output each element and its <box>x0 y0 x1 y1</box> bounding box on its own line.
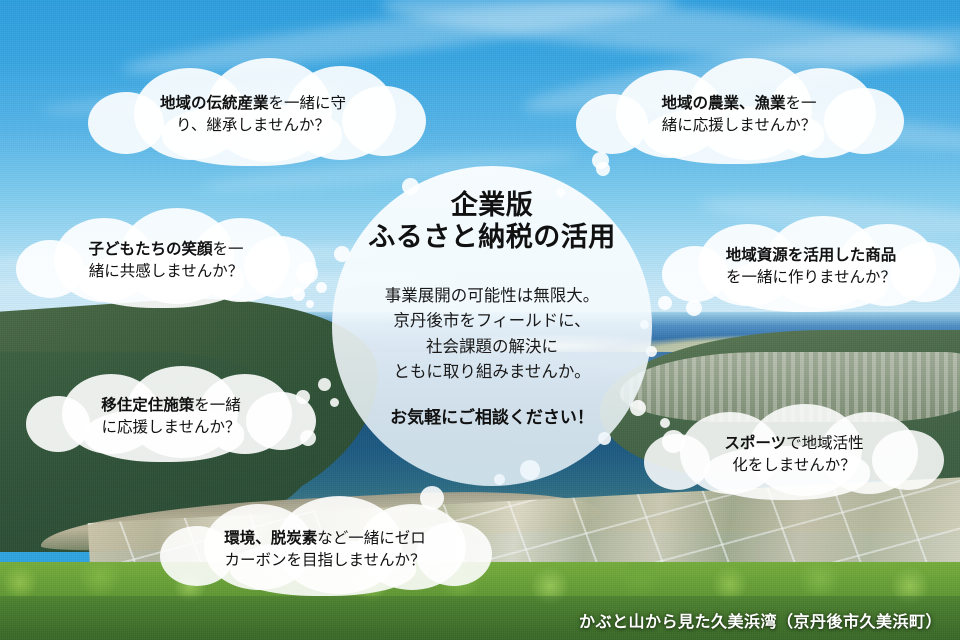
speech-bubble-traditional-industry: 地域の伝統産業を一緒に守 り、継承しませんか？ <box>88 58 418 170</box>
bubble-line2-5: 化をしませんか？ <box>724 454 863 476</box>
bubble-bold-6: 環境、脱炭素 <box>224 529 317 547</box>
poster-title-line2: ふるさと納税の活用 <box>368 222 616 254</box>
bubble-bold-2: 子どもたちの笑顔 <box>88 240 212 258</box>
bubble-rest-2: を一 <box>213 240 244 258</box>
bubble-line2-4: に応援しませんか？ <box>101 416 241 438</box>
bubble-rest-1: を一 <box>786 94 817 112</box>
speech-bubble-text: 地域資源を活用した商品 を一緒に作りませんか？ <box>716 244 907 289</box>
speech-bubble-text: スポーツで地域活性 化をしませんか？ <box>714 432 873 477</box>
bubble-rest-6: など一緒にゼロ <box>317 529 426 547</box>
decor-bubble <box>316 282 327 293</box>
bubble-bold-5: スポーツ <box>724 434 786 452</box>
bubble-rest-5: で地域活性 <box>786 434 864 452</box>
decor-bubble <box>686 300 702 316</box>
speech-bubble-agriculture-fishery: 地域の農業、漁業を一 緒に応援しませんか？ <box>576 58 902 170</box>
bubble-line2-0: り、継承しませんか？ <box>160 114 346 136</box>
bubble-line2-3: を一緒に作りませんか？ <box>726 266 897 288</box>
photo-caption: かぶと山から見た久美浜湾（京丹後市久美浜町） <box>579 608 942 632</box>
bubble-rest-0: を一緒に守 <box>269 94 347 112</box>
poster-title-line1: 企業版 <box>368 190 616 222</box>
speech-bubble-text: 子どもたちの笑顔を一 緒に共感しませんか？ <box>78 238 253 283</box>
poster-body-line2: 京丹後市をフィールドに、 <box>385 308 600 334</box>
poster-cta-text: お気軽にご相談ください！ <box>390 403 594 428</box>
bubble-line2-2: 緒に共感しませんか？ <box>88 260 243 282</box>
central-message-circle: 企業版 ふるさと納税の活用 事業展開の可能性は無限大。 京丹後市をフィールドに、… <box>332 166 652 486</box>
bubble-line2-1: 緒に応援しませんか？ <box>661 114 816 136</box>
speech-bubble-text: 地域の農業、漁業を一 緒に応援しませんか？ <box>651 92 826 137</box>
speech-bubble-text: 地域の伝統産業を一緒に守 り、継承しませんか？ <box>150 92 356 137</box>
decor-bubble <box>296 390 310 404</box>
speech-bubble-text: 移住定住施策を一緒 に応援しませんか？ <box>91 394 251 439</box>
bubble-line2-6: カーボンを目指しませんか？ <box>224 549 426 571</box>
bubble-bold-1: 地域の農業、漁業 <box>661 94 785 112</box>
bubble-rest-4: を一緒 <box>194 396 241 414</box>
decor-bubble <box>318 378 331 391</box>
speech-bubble-migration-settlement: 移住定住施策を一緒 に応援しませんか？ <box>26 366 316 466</box>
speech-bubble-zero-carbon: 環境、脱炭素など一緒にゼロ カーボンを目指しませんか？ <box>160 496 490 602</box>
poster-body-line3: 社会課題の解決に <box>385 334 600 360</box>
speech-bubble-local-resources: 地域資源を活用した商品 を一緒に作りませんか？ <box>662 216 960 316</box>
speech-bubble-text: 環境、脱炭素など一緒にゼロ カーボンを目指しませんか？ <box>214 527 436 572</box>
poster-body-line4: ともに取り組みませんか。 <box>385 359 600 385</box>
decor-bubble <box>292 288 305 301</box>
bubble-bold-3: 地域資源を活用した商品 <box>726 246 897 264</box>
decor-bubble <box>330 398 339 407</box>
poster-canvas: 企業版 ふるさと納税の活用 事業展開の可能性は無限大。 京丹後市をフィールドに、… <box>0 0 960 640</box>
decor-bubble <box>592 152 609 169</box>
bubble-bold-0: 地域の伝統産業 <box>160 94 269 112</box>
bubble-bold-4: 移住定住施策 <box>101 396 194 414</box>
speech-bubble-sports: スポーツで地域活性 化をしませんか？ <box>644 404 944 504</box>
speech-bubble-children-smiles: 子どもたちの笑顔を一 緒に共感しませんか？ <box>16 208 316 312</box>
poster-title: 企業版 ふるさと納税の活用 <box>368 190 616 255</box>
poster-body-text: 事業展開の可能性は無限大。 京丹後市をフィールドに、 社会課題の解決に ともに取… <box>385 283 600 385</box>
poster-body-line1: 事業展開の可能性は無限大。 <box>385 283 600 309</box>
